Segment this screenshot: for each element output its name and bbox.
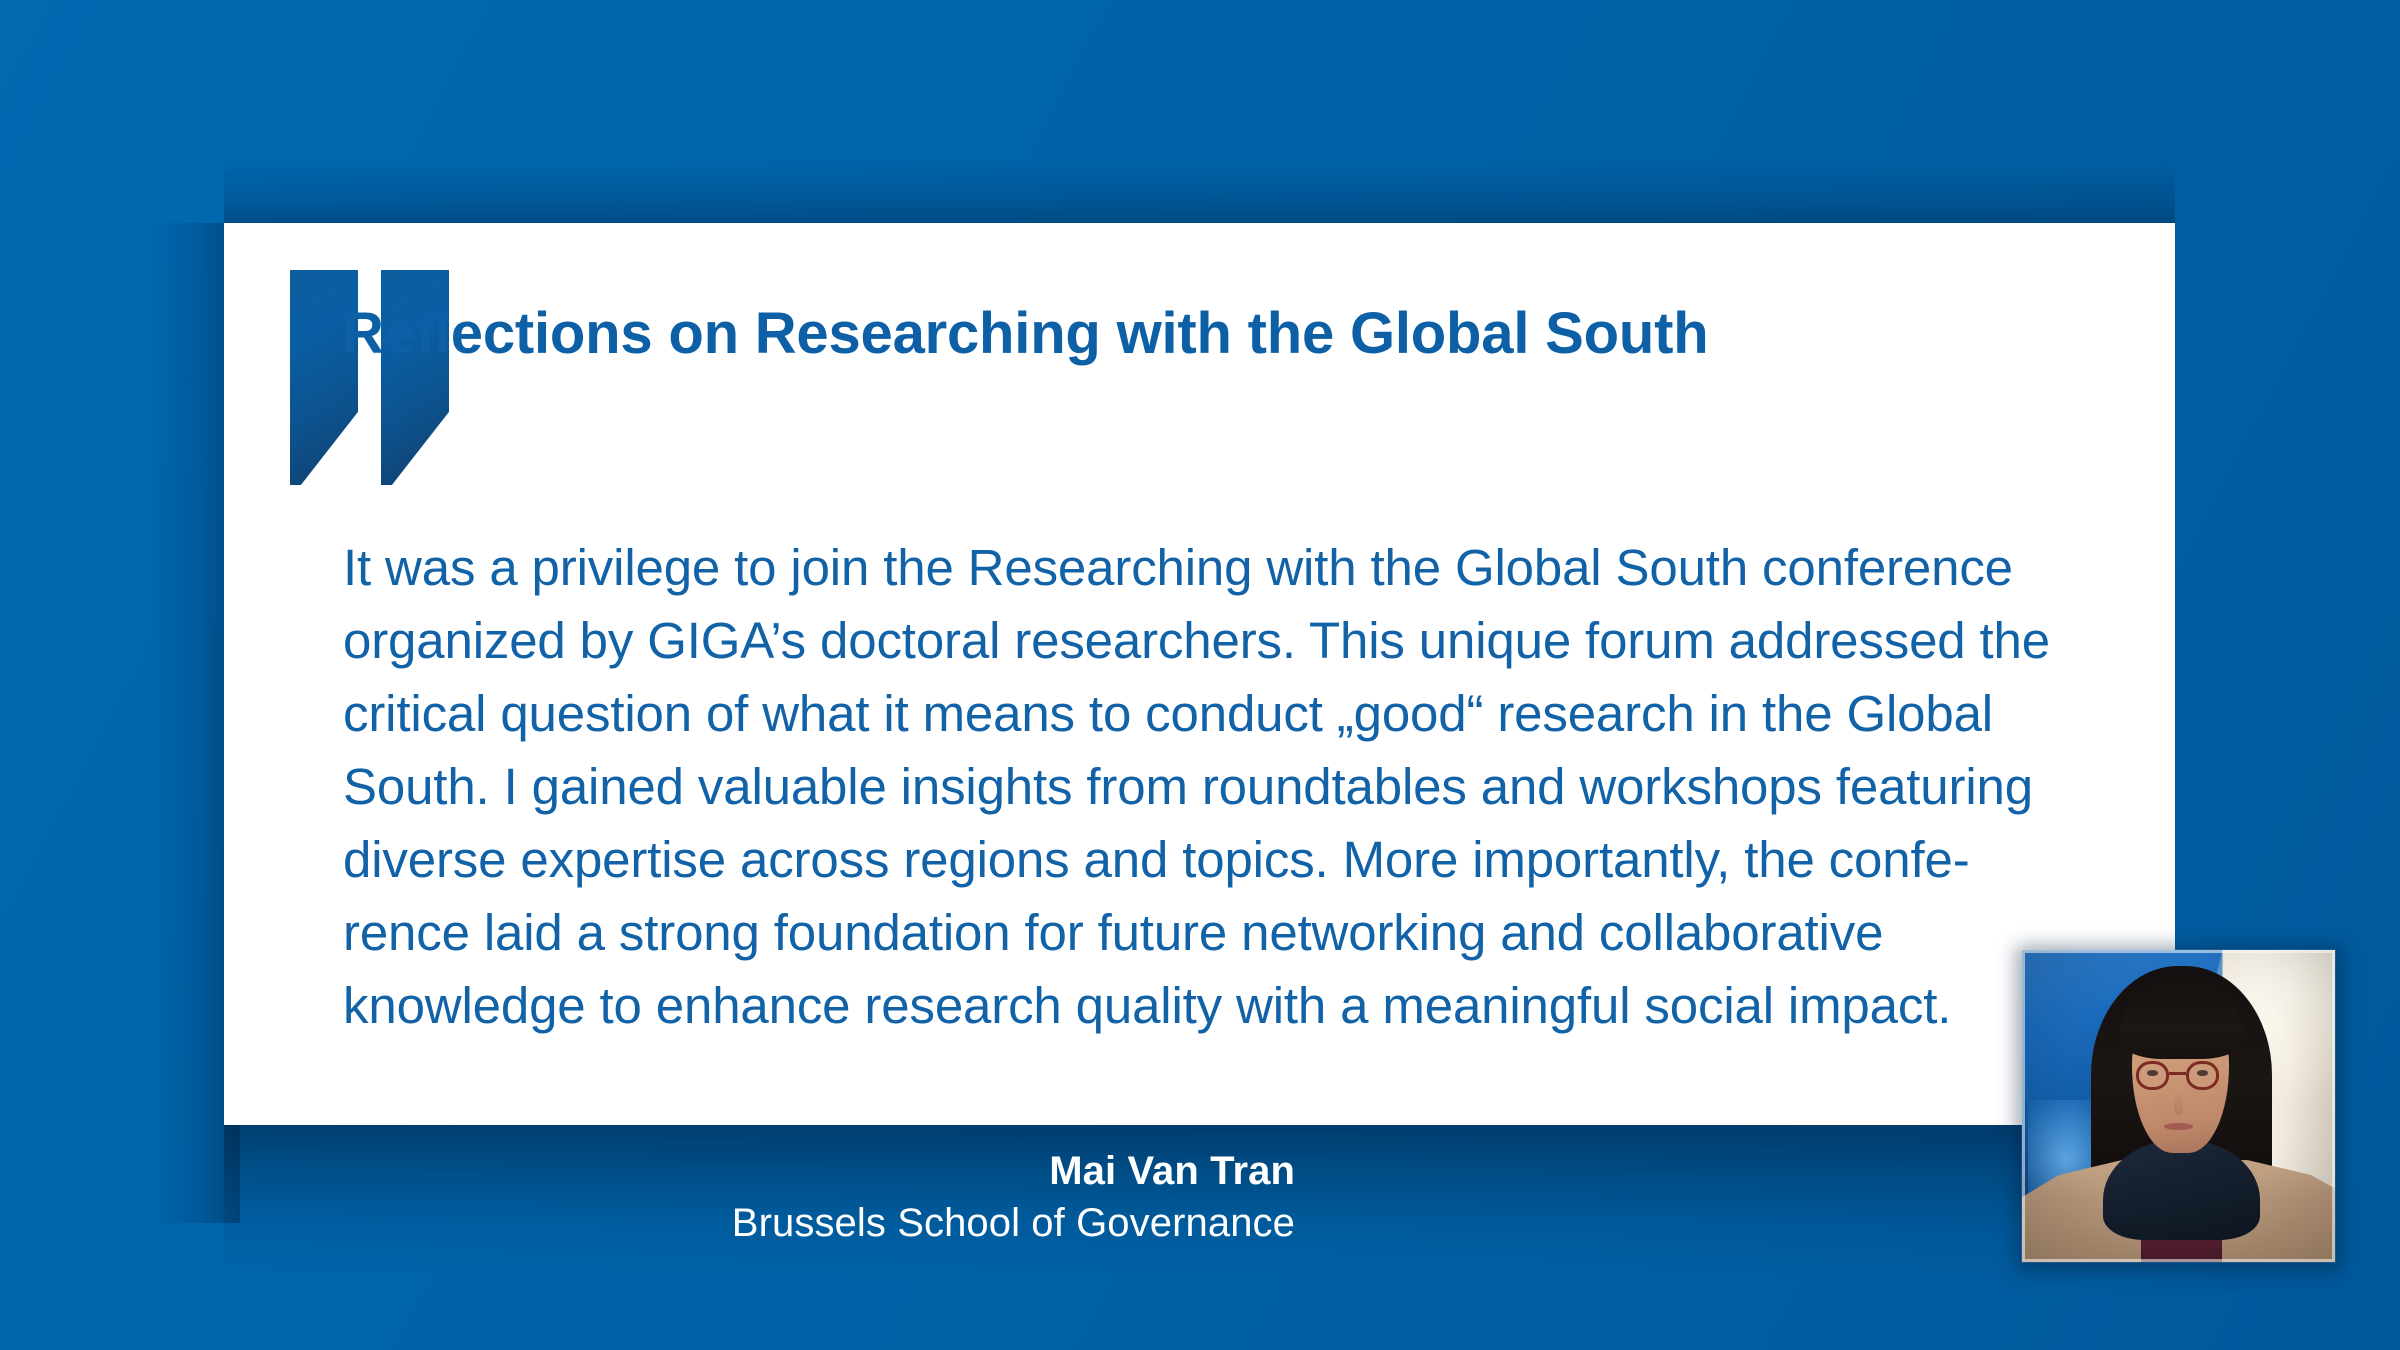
card-top-shadow: [224, 160, 2175, 230]
attribution: Mai Van Tran Brussels School of Governan…: [395, 1146, 1295, 1250]
attribution-name: Mai Van Tran: [395, 1146, 1295, 1196]
quote-card: Reflections on Researching with the Glob…: [224, 223, 2175, 1125]
quote-body-text: It was a privilege to join the Researchi…: [343, 531, 2133, 1042]
portrait-photo: [2022, 950, 2335, 1262]
attribution-affiliation: Brussels School of Governance: [395, 1196, 1295, 1250]
portrait-border: [2022, 950, 2335, 1262]
quote-title: Reflections on Researching with the Glob…: [342, 303, 2132, 366]
portrait-photo-background: [2022, 950, 2335, 1262]
